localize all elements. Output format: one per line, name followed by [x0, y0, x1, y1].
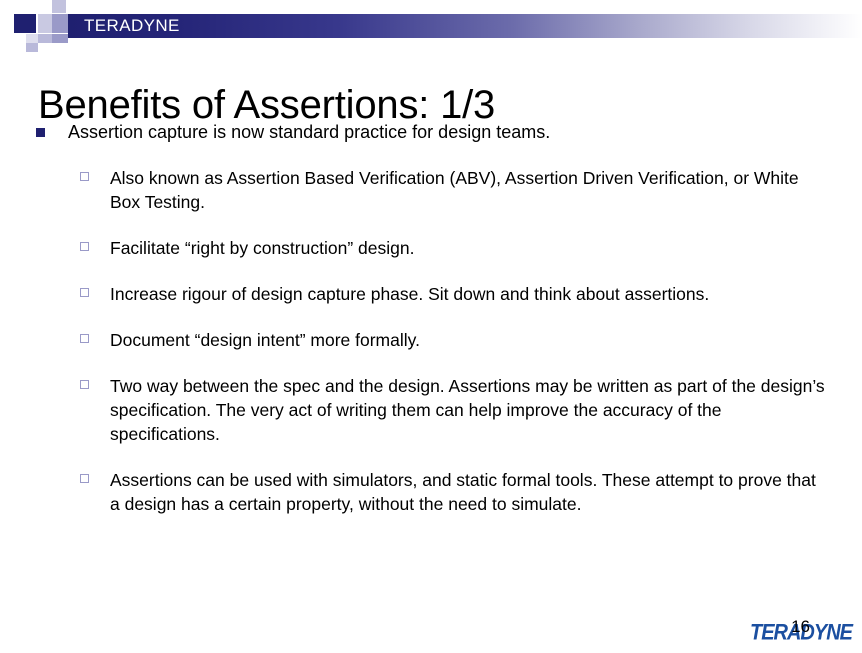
bullet-text: Also known as Assertion Based Verificati… [110, 168, 799, 212]
bullet-text: Assertion capture is now standard practi… [68, 122, 550, 142]
bullet-text: Document “design intent” more formally. [110, 330, 420, 350]
page-number: 16 [791, 617, 810, 637]
hollow-square-bullet-icon [80, 334, 89, 343]
slide: TERADYNE Benefits of Assertions: 1/3 Ass… [0, 0, 862, 653]
slide-header: TERADYNE [0, 0, 862, 52]
bullet-level2-item: Document “design intent” more formally. [0, 328, 862, 352]
bullet-text: Facilitate “right by construction” desig… [110, 238, 414, 258]
bullet-level1-item: Assertion capture is now standard practi… [0, 120, 862, 144]
slide-body: Assertion capture is now standard practi… [0, 120, 862, 516]
bullet-level2-item: Facilitate “right by construction” desig… [0, 236, 862, 260]
hollow-square-bullet-icon [80, 172, 89, 181]
hollow-square-bullet-icon [80, 288, 89, 297]
hollow-square-bullet-icon [80, 242, 89, 251]
bullet-level2-item: Assertions can be used with simulators, … [0, 468, 862, 516]
bullet-text: Two way between the spec and the design.… [110, 376, 825, 444]
bullet-text: Increase rigour of design capture phase.… [110, 284, 709, 304]
hollow-square-bullet-icon [80, 474, 89, 483]
bullet-text: Assertions can be used with simulators, … [110, 470, 816, 514]
slide-footer: TERADYNE 16 [724, 615, 854, 649]
bullet-level2-item: Increase rigour of design capture phase.… [0, 282, 862, 306]
filled-square-bullet-icon [36, 128, 45, 137]
hollow-square-bullet-icon [80, 380, 89, 389]
header-brand-bar: TERADYNE [68, 14, 862, 38]
header-brand-label: TERADYNE [84, 16, 180, 36]
bullet-level2-item: Two way between the spec and the design.… [0, 374, 862, 446]
bullet-level2-item: Also known as Assertion Based Verificati… [0, 166, 862, 214]
